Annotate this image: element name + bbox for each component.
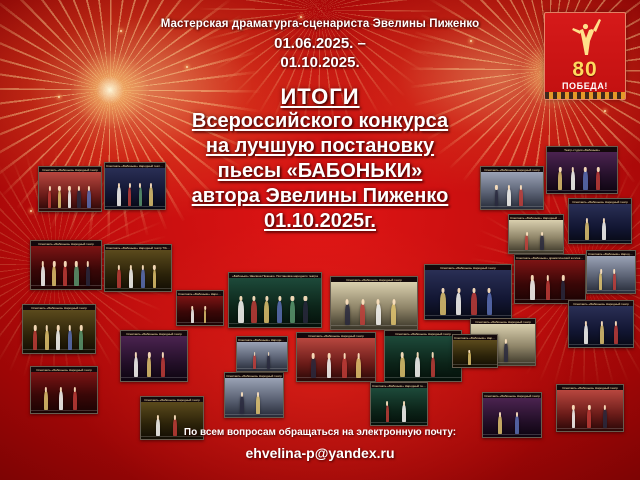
performer-figure xyxy=(267,355,270,368)
photo-tile[interactable]: Спектакль «Бабоньки» Народный театр xyxy=(370,382,428,426)
poster-canvas: Мастерская драматурга-сценариста Эвелины… xyxy=(0,0,640,480)
performer-figure xyxy=(546,280,550,300)
photo-image xyxy=(371,388,427,425)
performer-figure xyxy=(440,293,445,316)
stage-floor xyxy=(587,290,635,291)
performer-figure xyxy=(56,330,60,350)
photo-image xyxy=(225,378,283,417)
performer-figure xyxy=(327,358,332,378)
performer-figure xyxy=(561,280,565,300)
stage-floor xyxy=(385,377,461,378)
performer-figure xyxy=(456,293,461,316)
performer-figure xyxy=(530,280,534,300)
victory-number: 80 xyxy=(545,59,625,80)
photo-tile[interactable]: Спектакль «Бабоньки» Народный театр xyxy=(452,334,498,368)
performer-figure xyxy=(74,266,78,286)
photo-image xyxy=(31,372,97,413)
performer-figure xyxy=(129,269,133,288)
stage-floor xyxy=(31,410,97,411)
performer-figure xyxy=(277,301,283,324)
sparkle-dot xyxy=(120,30,122,32)
stage-floor xyxy=(371,422,427,423)
photo-image xyxy=(229,278,321,327)
photo-tile[interactable]: Спектакль «Бабоньки» Народный театр xyxy=(556,384,624,432)
photo-image xyxy=(31,246,101,289)
performer-figure xyxy=(311,358,316,378)
photo-tile[interactable]: Спектакль «Бабоньки» Народный театр xyxy=(176,290,224,326)
performer-figure xyxy=(540,235,543,250)
performer-figure xyxy=(251,301,257,324)
photo-image xyxy=(425,270,511,319)
performer-figure xyxy=(63,266,67,286)
performer-figure xyxy=(253,355,256,368)
victory-80-emblem: 80 ПОБЕДА! xyxy=(544,12,626,100)
contact-email[interactable]: ehvelina-p@yandex.ru xyxy=(0,445,640,461)
stage-floor xyxy=(453,364,497,365)
photo-tile[interactable]: Спектакль «Бабоньки» Народный театр xyxy=(22,304,96,354)
performer-figure xyxy=(599,273,602,290)
victory-label: ПОБЕДА! xyxy=(545,81,625,91)
performer-figure xyxy=(603,409,607,428)
performer-figure xyxy=(360,304,365,326)
performer-figure xyxy=(431,357,436,378)
performer-figure xyxy=(391,304,396,326)
performer-figure xyxy=(79,330,83,350)
performer-figure xyxy=(68,330,72,350)
performer-figure xyxy=(415,357,420,378)
stage-floor xyxy=(569,240,631,241)
stage-floor xyxy=(297,377,375,378)
performer-figure xyxy=(584,325,588,344)
performer-figure xyxy=(376,304,381,326)
photo-image xyxy=(331,282,417,329)
stage-floor xyxy=(31,285,101,286)
performer-figure xyxy=(613,273,616,290)
stage-floor xyxy=(509,250,563,251)
performer-figure xyxy=(600,325,604,344)
performer-figure xyxy=(572,409,576,428)
stage-floor xyxy=(229,323,321,324)
performer-figure xyxy=(86,266,90,286)
photo-tile[interactable]: Спектакль «Бабоньки» Народный театр "Род… xyxy=(104,244,172,292)
photo-tile[interactable]: Спектакль «Бабоньки» Народный театр xyxy=(586,250,636,294)
photo-tile[interactable]: Спектакль «Бабоньки» Народный театр xyxy=(236,336,288,372)
photo-tile[interactable]: Спектакль «Бабоньки» драматический колле… xyxy=(514,254,586,304)
performer-figure xyxy=(400,357,405,378)
stage-floor xyxy=(331,325,417,326)
performer-figure xyxy=(303,301,309,324)
performer-figure xyxy=(134,357,138,378)
photo-image xyxy=(515,260,585,303)
performer-figure xyxy=(504,343,508,362)
photo-tile[interactable]: Спектакль «Бабоньки» Народный театр xyxy=(120,330,188,382)
performer-figure xyxy=(204,309,207,322)
performer-figure xyxy=(525,235,528,250)
performer-figure xyxy=(117,269,121,288)
stage-floor xyxy=(23,349,95,350)
performer-figure xyxy=(386,405,389,422)
title-line-4: пьесы «БАБОНЬКИ» xyxy=(0,159,640,184)
performer-figure xyxy=(45,330,49,350)
performer-figure xyxy=(161,357,165,378)
photo-tile[interactable]: Спектакль «Бабоньки» Народный театр xyxy=(330,276,418,330)
photo-image xyxy=(121,336,187,381)
performer-figure xyxy=(487,293,492,316)
performer-figure xyxy=(587,409,591,428)
photo-image xyxy=(587,256,635,293)
performer-figure xyxy=(402,405,405,422)
performer-figure xyxy=(471,293,476,316)
stage-floor xyxy=(237,368,287,369)
photo-image xyxy=(453,340,497,367)
performer-figure xyxy=(290,301,296,324)
performer-figure xyxy=(141,269,145,288)
title-line-6: 01.10.2025г. xyxy=(0,209,640,234)
photo-image xyxy=(569,306,633,347)
performer-figure xyxy=(468,352,471,364)
performer-figure xyxy=(342,358,347,378)
performer-figure xyxy=(52,266,56,286)
title-line-2: Всероссийского конкурса xyxy=(0,109,640,134)
photo-image xyxy=(385,336,461,381)
page-title: ИТОГИ Всероссийского конкурса на лучшую … xyxy=(0,84,640,234)
performer-figure xyxy=(44,391,48,410)
performer-figure xyxy=(356,358,361,378)
performer-figure xyxy=(345,304,350,326)
photo-tile[interactable]: Спектакль «Бабоньки» Народный театр xyxy=(384,330,462,382)
performer-figure xyxy=(264,301,270,324)
performer-figure xyxy=(256,396,259,414)
photo-tile[interactable]: Спектакль «Бабоньки» Народный театр xyxy=(224,372,284,418)
stage-floor xyxy=(225,414,283,415)
photo-image xyxy=(23,310,95,353)
motherland-calls-icon xyxy=(563,17,607,61)
performer-figure xyxy=(153,269,157,288)
photo-image xyxy=(557,390,623,431)
photo-tile[interactable]: Спектакль «Бабоньки» Народный театр xyxy=(296,332,376,382)
stage-floor xyxy=(425,315,511,316)
performer-figure xyxy=(614,325,618,344)
photo-tile[interactable]: Спектакль «Бабоньки» Народный театр xyxy=(30,240,102,290)
photo-tile[interactable]: Спектакль «Бабоньки» Народный театр xyxy=(424,264,512,320)
contact-note: По всем вопросам обращаться на электронн… xyxy=(0,427,640,438)
photo-image xyxy=(237,342,287,371)
performer-figure xyxy=(33,330,37,350)
title-line-5: автора Эвелины Пиженко xyxy=(0,184,640,209)
performer-figure xyxy=(73,391,77,410)
performer-figure xyxy=(191,309,194,322)
stage-floor xyxy=(105,288,171,289)
performer-figure xyxy=(41,266,45,286)
title-line-3: на лучшую постановку xyxy=(0,134,640,159)
photo-image xyxy=(105,250,171,291)
stage-floor xyxy=(177,322,223,323)
photo-tile[interactable]: Спектакль «Бабоньки» Народный театр xyxy=(30,366,98,414)
performer-figure xyxy=(238,301,244,324)
photo-image xyxy=(297,338,375,381)
st-george-ribbon xyxy=(545,92,625,99)
stage-floor xyxy=(121,377,187,378)
performer-figure xyxy=(240,396,243,414)
performer-figure xyxy=(147,357,151,378)
photo-tile[interactable]: «Бабоньки» Эвелина Пиженко. Постановка н… xyxy=(228,272,322,328)
performer-figure xyxy=(59,391,63,410)
photo-image xyxy=(177,296,223,325)
photo-tile[interactable]: Спектакль «Бабоньки» Народный театр xyxy=(568,300,634,348)
